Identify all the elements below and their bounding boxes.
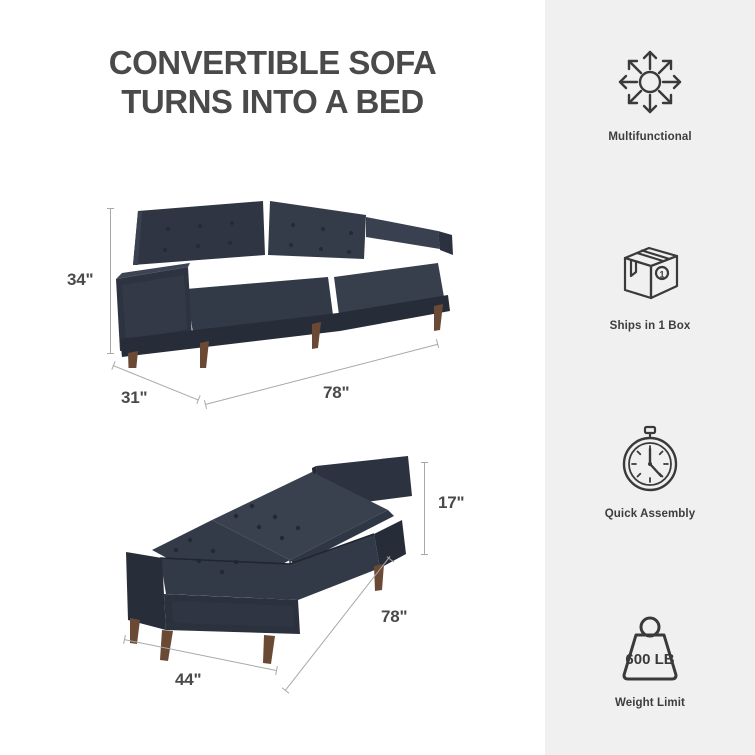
feature-ships-in-one-box: 1 Ships in 1 Box <box>545 189 755 378</box>
sofa-depth-label: 31" <box>118 388 150 408</box>
bed-illustration <box>112 448 442 668</box>
bed-length-label: 78" <box>378 607 410 627</box>
feature-weight-limit: 600 LB Weight Limit <box>545 566 755 755</box>
bed-height-cap-bottom <box>421 554 428 555</box>
bed-width-cap-end <box>275 666 278 675</box>
bed-width-label: 44" <box>172 670 204 690</box>
features-sidebar: Multifunctional <box>545 0 755 755</box>
feature-label-quick-assembly: Quick Assembly <box>605 508 695 520</box>
bed-height-dimension-line <box>424 462 425 554</box>
feature-multifunctional: Multifunctional <box>545 0 755 189</box>
shipping-box-icon: 1 <box>611 235 689 307</box>
infographic-page: CONVERTIBLE SOFA TURNS INTO A BED <box>0 0 755 755</box>
bed-height-label: 17" <box>435 493 467 513</box>
sofa-height-cap-bottom <box>107 353 114 354</box>
sofa-illustration <box>108 193 468 368</box>
sofa-width-label: 78" <box>320 383 352 403</box>
feature-label-ships-in-one-box: Ships in 1 Box <box>610 320 691 332</box>
feature-quick-assembly: Quick Assembly <box>545 378 755 567</box>
feature-label-multifunctional: Multifunctional <box>608 131 691 143</box>
weight-icon: 600 LB <box>611 612 689 684</box>
page-title: CONVERTIBLE SOFA TURNS INTO A BED <box>0 44 545 122</box>
svg-text:1: 1 <box>659 269 664 279</box>
headline-line-1: CONVERTIBLE SOFA <box>109 44 437 81</box>
bed-height-cap-top <box>421 462 428 463</box>
weight-badge-text: 600 LB <box>625 651 674 668</box>
sofa-height-cap-top <box>107 208 114 209</box>
multifunctional-arrows-icon <box>611 46 689 118</box>
headline-line-2: TURNS INTO A BED <box>0 83 545 122</box>
sofa-height-label: 34" <box>64 270 96 290</box>
sofa-depth-cap-end <box>196 395 200 404</box>
stopwatch-icon <box>611 423 689 495</box>
main-panel: CONVERTIBLE SOFA TURNS INTO A BED <box>0 0 545 755</box>
sofa-height-dimension-line <box>110 208 111 353</box>
feature-label-weight-limit: Weight Limit <box>615 697 685 709</box>
